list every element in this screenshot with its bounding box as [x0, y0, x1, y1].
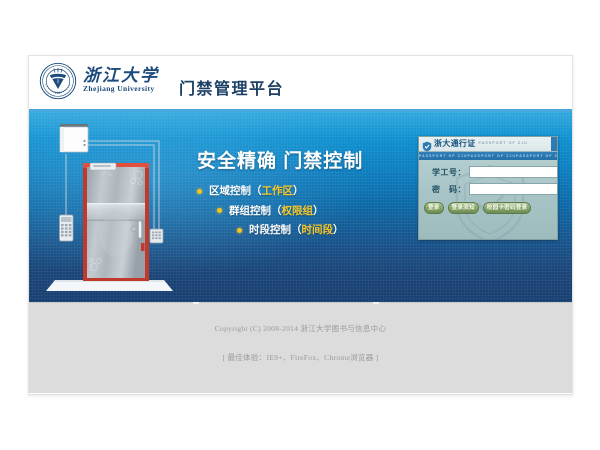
feature-label: 时段控制（ — [249, 225, 302, 236]
feature-item-time-control: 时段控制（ 时间段 ） — [197, 225, 412, 236]
feature-label: 群组控制（ — [229, 206, 282, 217]
footer-browser-note: [ 最佳体验：IE9+、FireFox、Chrome浏览器 ] — [29, 352, 572, 363]
feature-tail: ） — [313, 206, 324, 217]
banner-slogan: 安全精确 门禁控制 — [197, 146, 412, 173]
access-control-door-illustration — [41, 117, 181, 299]
titlebar-accent-bar — [551, 137, 557, 151]
footer-copyright: Copyright (C) 2008-2014 浙江大学图书与信息中心 — [29, 323, 572, 334]
feature-item-group-control: 群组控制（ 权限组 ） — [197, 206, 412, 217]
bullet-dot-icon — [197, 189, 202, 194]
bullet-dot-icon — [217, 208, 222, 213]
username-input[interactable] — [469, 166, 558, 178]
brand-wordmark: 浙江大学 Zhejiang University — [83, 67, 159, 94]
footer-notch — [193, 302, 199, 304]
site-card: 1897 浙江大学 Zhejiang University 门禁管理平台 — [28, 55, 573, 395]
site-footer: Copyright (C) 2008-2014 浙江大学图书与信息中心 [ 最佳… — [29, 302, 572, 393]
page-root: 1897 浙江大学 Zhejiang University 门禁管理平台 — [0, 0, 600, 450]
brand-logo[interactable]: 1897 浙江大学 Zhejiang University — [39, 62, 159, 100]
feature-list: 区域控制（ 工作区 ） 群组控制（ 权限组 ） 时段控制（ 时间段 — [197, 186, 412, 236]
password-label: 密 码： — [425, 184, 469, 195]
password-input[interactable] — [469, 183, 558, 195]
zju-seal-icon: 1897 — [39, 62, 77, 100]
footer-notch — [373, 302, 379, 304]
login-title-cn: 浙大通行证 — [434, 140, 476, 148]
feature-accent: 工作区 — [262, 186, 294, 197]
passport-strip-text: PASSPORT OF ZJU — [419, 154, 468, 158]
login-button-group: 登录 登录须知 校园卡密码登录 — [419, 200, 557, 214]
banner-copy: 安全精确 门禁控制 区域控制（ 工作区 ） 群组控制（ 权限组 ） — [197, 146, 412, 245]
username-row: 学工号： — [425, 166, 551, 178]
bullet-dot-icon — [237, 228, 242, 233]
shield-icon — [422, 139, 432, 150]
feature-item-area-control: 区域控制（ 工作区 ） — [197, 186, 412, 197]
login-form: 学工号： 密 码： — [419, 160, 557, 195]
svg-text:1897: 1897 — [55, 92, 62, 95]
feature-label: 区域控制（ — [209, 186, 262, 197]
passport-watermark-strip: PASSPORT OF ZJU PASSPORT OF ZJU PASSPORT… — [419, 152, 557, 160]
brand-name-cn: 浙江大学 — [83, 67, 159, 85]
login-button[interactable]: 登录 — [424, 202, 444, 214]
feature-accent: 权限组 — [282, 206, 314, 217]
page-title: 门禁管理平台 — [179, 75, 284, 99]
login-titlebar: 浙大通行证 PASSPORT OF ZJU — [419, 137, 557, 152]
password-row: 密 码： — [425, 183, 551, 195]
site-header: 1897 浙江大学 Zhejiang University 门禁管理平台 — [29, 56, 572, 112]
brand-name-en: Zhejiang University — [83, 85, 159, 93]
feature-accent: 时间段 — [302, 225, 334, 236]
feature-tail: ） — [293, 186, 304, 197]
passport-strip-text: PASSPORT OF ZJU — [468, 154, 517, 158]
login-panel: 浙大通行证 PASSPORT OF ZJU PASSPORT OF ZJU PA… — [418, 136, 558, 240]
login-notice-button[interactable]: 登录须知 — [448, 202, 479, 214]
username-label: 学工号： — [425, 167, 469, 178]
feature-tail: ） — [333, 225, 344, 236]
passport-strip-text: PASSPORT OF ZJU — [516, 154, 557, 158]
campus-card-login-button[interactable]: 校园卡密码登录 — [483, 202, 532, 214]
login-title-en: PASSPORT OF ZJU — [479, 142, 528, 146]
hero-banner: 安全精确 门禁控制 区域控制（ 工作区 ） 群组控制（ 权限组 ） — [29, 112, 572, 302]
